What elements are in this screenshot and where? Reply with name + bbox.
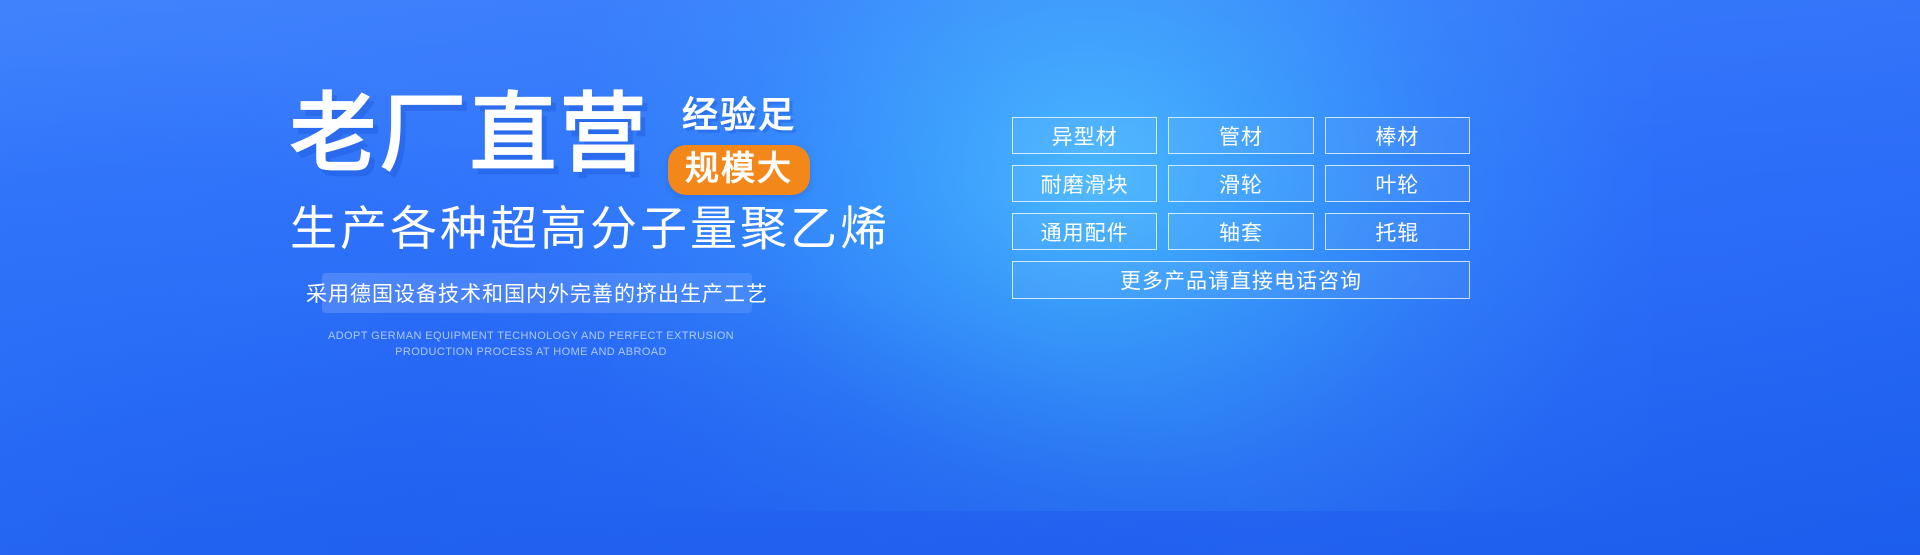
product-button-guancai[interactable]: 管材 bbox=[1168, 117, 1313, 154]
product-button-tongyongpeijian[interactable]: 通用配件 bbox=[1012, 213, 1157, 250]
english-tagline-line2: PRODUCTION PROCESS AT HOME AND ABROAD bbox=[290, 344, 772, 360]
product-button-tuogun[interactable]: 托辊 bbox=[1325, 213, 1470, 250]
product-row-3: 通用配件 轴套 托辊 bbox=[1012, 213, 1470, 250]
product-button-bangcai[interactable]: 棒材 bbox=[1325, 117, 1470, 154]
headline-row: 老厂直营 经验足 规模大 bbox=[290, 88, 930, 195]
product-button-yelun[interactable]: 叶轮 bbox=[1325, 165, 1470, 202]
badge-stack: 经验足 规模大 bbox=[668, 94, 810, 195]
process-tagline: 采用德国设备技术和国内外完善的挤出生产工艺 bbox=[322, 273, 752, 313]
product-button-hualun[interactable]: 滑轮 bbox=[1168, 165, 1313, 202]
contact-cta-button[interactable]: 更多产品请直接电话咨询 bbox=[1012, 261, 1470, 299]
product-row-2: 耐磨滑块 滑轮 叶轮 bbox=[1012, 165, 1470, 202]
main-headline: 老厂直营 bbox=[290, 88, 650, 180]
experience-badge: 经验足 bbox=[682, 94, 796, 136]
banner-content: 老厂直营 经验足 规模大 生产各种超高分子量聚乙烯 采用德国设备技术和国内外完善… bbox=[0, 0, 1920, 555]
product-row-cta: 更多产品请直接电话咨询 bbox=[1012, 261, 1470, 299]
english-tagline-line1: ADOPT GERMAN EQUIPMENT TECHNOLOGY AND PE… bbox=[290, 328, 772, 344]
promo-banner: 老厂直营 经验足 规模大 生产各种超高分子量聚乙烯 采用德国设备技术和国内外完善… bbox=[0, 0, 1920, 555]
sub-headline: 生产各种超高分子量聚乙烯 bbox=[290, 201, 772, 257]
product-row-1: 异型材 管材 棒材 bbox=[1012, 117, 1470, 154]
product-category-grid: 异型材 管材 棒材 耐磨滑块 滑轮 叶轮 通用配件 轴套 托辊 更多产品请直接电… bbox=[1012, 117, 1470, 310]
english-tagline: ADOPT GERMAN EQUIPMENT TECHNOLOGY AND PE… bbox=[290, 328, 772, 360]
product-button-zhoutao[interactable]: 轴套 bbox=[1168, 213, 1313, 250]
scale-badge: 规模大 bbox=[668, 145, 810, 195]
headline-block: 老厂直营 经验足 规模大 生产各种超高分子量聚乙烯 采用德国设备技术和国内外完善… bbox=[290, 88, 930, 360]
product-button-naimohuakuai[interactable]: 耐磨滑块 bbox=[1012, 165, 1157, 202]
product-button-yixingcai[interactable]: 异型材 bbox=[1012, 117, 1157, 154]
